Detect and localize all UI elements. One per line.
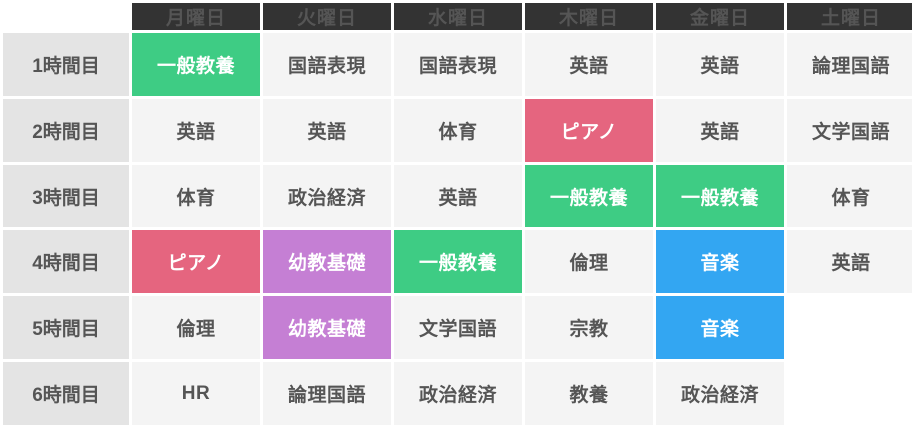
cell-wed-2: 体育 [394,99,522,162]
cell-sat-6 [787,362,912,425]
table-row: 2時間目 英語 英語 体育 ピアノ 英語 文学国語 [3,99,912,162]
cell-fri-4: 音楽 [656,230,784,293]
table-row: 5時間目 倫理 幼教基礎 文学国語 宗教 音楽 [3,296,912,359]
table-corner [3,3,129,30]
day-header-saturday: 土曜日 [787,3,912,30]
period-label-4: 4時間目 [3,230,129,293]
period-label-3: 3時間目 [3,165,129,228]
cell-wed-6: 政治経済 [394,362,522,425]
day-header-monday: 月曜日 [132,3,260,30]
period-label-2: 2時間目 [3,99,129,162]
cell-wed-3: 英語 [394,165,522,228]
cell-sat-5 [787,296,912,359]
table-row: 1時間目 一般教養 国語表現 国語表現 英語 英語 論理国語 [3,33,912,96]
cell-fri-6: 政治経済 [656,362,784,425]
cell-mon-3: 体育 [132,165,260,228]
cell-thu-3: 一般教養 [525,165,653,228]
cell-fri-1: 英語 [656,33,784,96]
cell-wed-5: 文学国語 [394,296,522,359]
cell-sat-3: 体育 [787,165,912,228]
cell-tue-5: 幼教基礎 [263,296,391,359]
cell-sat-2: 文学国語 [787,99,912,162]
period-label-6: 6時間目 [3,362,129,425]
cell-thu-1: 英語 [525,33,653,96]
timetable-header-row: 月曜日 火曜日 水曜日 木曜日 金曜日 土曜日 [3,3,912,30]
day-header-friday: 金曜日 [656,3,784,30]
cell-tue-6: 論理国語 [263,362,391,425]
cell-fri-3: 一般教養 [656,165,784,228]
cell-thu-2: ピアノ [525,99,653,162]
cell-thu-4: 倫理 [525,230,653,293]
cell-fri-2: 英語 [656,99,784,162]
cell-wed-1: 国語表現 [394,33,522,96]
cell-mon-2: 英語 [132,99,260,162]
cell-tue-1: 国語表現 [263,33,391,96]
cell-tue-4: 幼教基礎 [263,230,391,293]
cell-mon-1: 一般教養 [132,33,260,96]
cell-thu-6: 教養 [525,362,653,425]
table-row: 4時間目 ピアノ 幼教基礎 一般教養 倫理 音楽 英語 [3,230,912,293]
cell-mon-5: 倫理 [132,296,260,359]
cell-tue-2: 英語 [263,99,391,162]
period-label-5: 5時間目 [3,296,129,359]
cell-tue-3: 政治経済 [263,165,391,228]
cell-wed-4: 一般教養 [394,230,522,293]
day-header-tuesday: 火曜日 [263,3,391,30]
period-label-1: 1時間目 [3,33,129,96]
cell-sat-4: 英語 [787,230,912,293]
cell-thu-5: 宗教 [525,296,653,359]
cell-sat-1: 論理国語 [787,33,912,96]
day-header-thursday: 木曜日 [525,3,653,30]
cell-fri-5: 音楽 [656,296,784,359]
table-row: 6時間目 HR 論理国語 政治経済 教養 政治経済 [3,362,912,425]
day-header-wednesday: 水曜日 [394,3,522,30]
table-row: 3時間目 体育 政治経済 英語 一般教養 一般教養 体育 [3,165,912,228]
cell-mon-6: HR [132,362,260,425]
timetable: 月曜日 火曜日 水曜日 木曜日 金曜日 土曜日 1時間目 一般教養 国語表現 国… [0,0,912,428]
cell-mon-4: ピアノ [132,230,260,293]
